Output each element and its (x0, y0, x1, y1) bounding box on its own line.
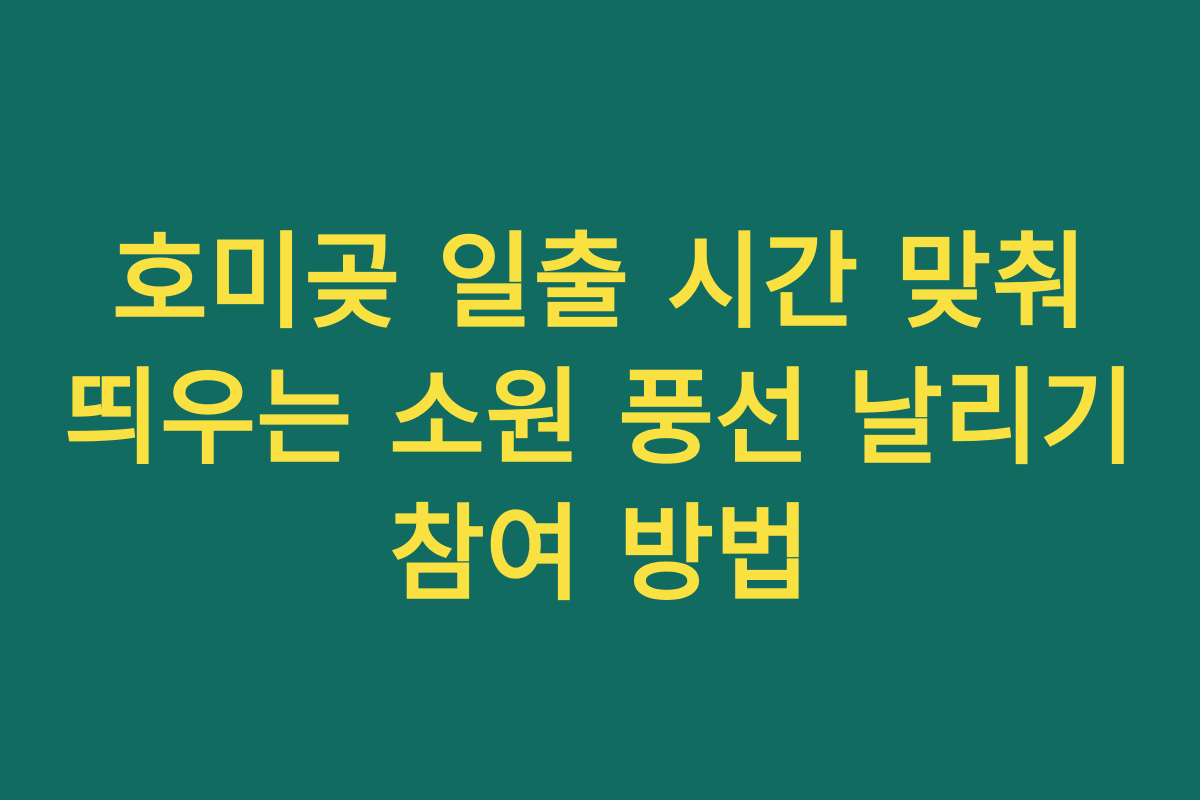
headline-line-1: 호미곶 일출 시간 맞춰 (40, 214, 1160, 350)
text-card: 호미곶 일출 시간 맞춰 띄우는 소원 풍선 날리기 참여 방법 (0, 0, 1200, 800)
page-title: 호미곶 일출 시간 맞춰 띄우는 소원 풍선 날리기 참여 방법 (40, 214, 1160, 622)
headline-line-2: 띄우는 소원 풍선 날리기 (40, 350, 1160, 486)
headline-line-3: 참여 방법 (40, 486, 1160, 622)
